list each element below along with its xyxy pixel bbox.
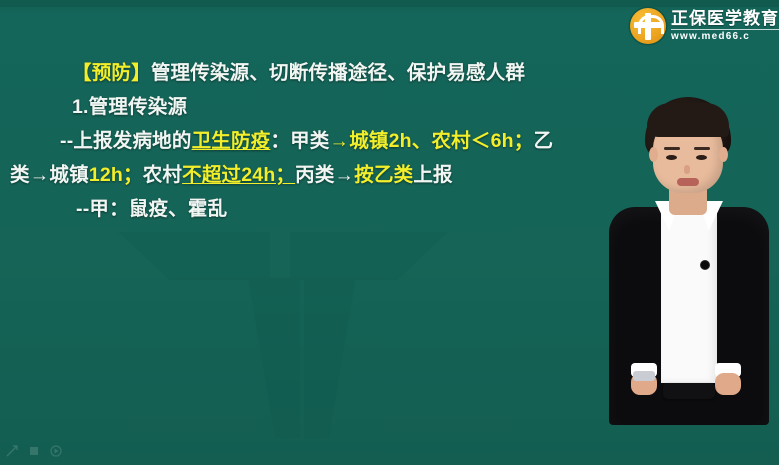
next-icon[interactable] [50, 445, 62, 457]
presenter-ear-right [719, 147, 728, 162]
slide-line-4: 类→城镇12h；农村不超过24h；丙类→按乙类上报 [0, 158, 620, 192]
presenter-brow-right [694, 147, 710, 150]
slide-line-2: 1.管理传染源 [0, 90, 620, 124]
video-player-frame: 正保医学教育 www.med66.c 【预防】管理传染源、切断传播途径、保护易感… [0, 0, 779, 465]
slide-line-4-segment-6: 按乙类 [354, 164, 413, 186]
presenter-remote-control [663, 383, 715, 399]
stop-icon[interactable] [28, 445, 40, 457]
presenter-mouth [677, 178, 699, 186]
slide-line-5: --甲：鼠疫、霍乱 [0, 192, 620, 226]
brand-divider [671, 29, 779, 30]
presenter-nose [684, 165, 690, 174]
slide-line-4-segment-4: 不超过24h； [182, 164, 295, 186]
slide-line-2-segment-1: 1.管理传染源 [72, 96, 187, 118]
fullscreen-icon[interactable] [6, 445, 18, 457]
presenter-video-overlay [589, 85, 779, 465]
slide-line-1-segment-1: 【预防】 [72, 62, 151, 84]
slide-line-1-segment-2: 管理传染源、切断传播途径、保护易感人群 [151, 62, 525, 84]
brand-name: 正保医学教育 [671, 10, 779, 28]
presenter-brow-left [664, 147, 680, 150]
presenter-ear-left [649, 147, 658, 162]
player-controls[interactable] [6, 445, 62, 457]
presenter-hand-right [715, 373, 741, 395]
brand-url: www.med66.c [671, 31, 779, 42]
medical-cross-logo-icon [630, 8, 666, 44]
slide-line-4-segment-1: 类→城镇 [10, 164, 89, 186]
slide-line-4-segment-2: 12h； [89, 164, 143, 186]
presenter-eye-right [696, 155, 707, 160]
slide-line-5-segment-1: --甲：鼠疫、霍乱 [76, 198, 227, 220]
presenter-eye-left [666, 155, 677, 160]
slide-line-3-segment-3: ：甲类 [270, 130, 329, 152]
presenter-fringe [647, 103, 729, 137]
slide-line-1: 【预防】管理传染源、切断传播途径、保护易感人群 [0, 56, 620, 90]
slide-text-block: 【预防】管理传染源、切断传播途径、保护易感人群1.管理传染源--上报发病地的卫生… [0, 56, 620, 226]
brand-text-block: 正保医学教育 www.med66.c [671, 10, 779, 42]
slide-line-3-segment-4: →城镇2h、农村＜6h； [330, 130, 534, 152]
slide-line-3-segment-5: 乙 [533, 130, 553, 152]
slide-line-3: --上报发病地的卫生防疫：甲类→城镇2h、农村＜6h；乙 [0, 124, 620, 158]
slide-line-3-segment-2: 卫生防疫 [192, 130, 271, 152]
slide-line-3-segment-1: --上报发病地的 [60, 130, 192, 152]
slide-line-4-segment-5: 丙类→ [295, 164, 354, 186]
slide-line-4-segment-3: 农村 [143, 164, 182, 186]
slide-line-4-segment-7: 上报 [413, 164, 452, 186]
presenter-wristwatch [633, 371, 655, 381]
lapel-microphone-icon [701, 261, 709, 269]
brand-logo: 正保医学教育 www.med66.c [630, 5, 779, 47]
